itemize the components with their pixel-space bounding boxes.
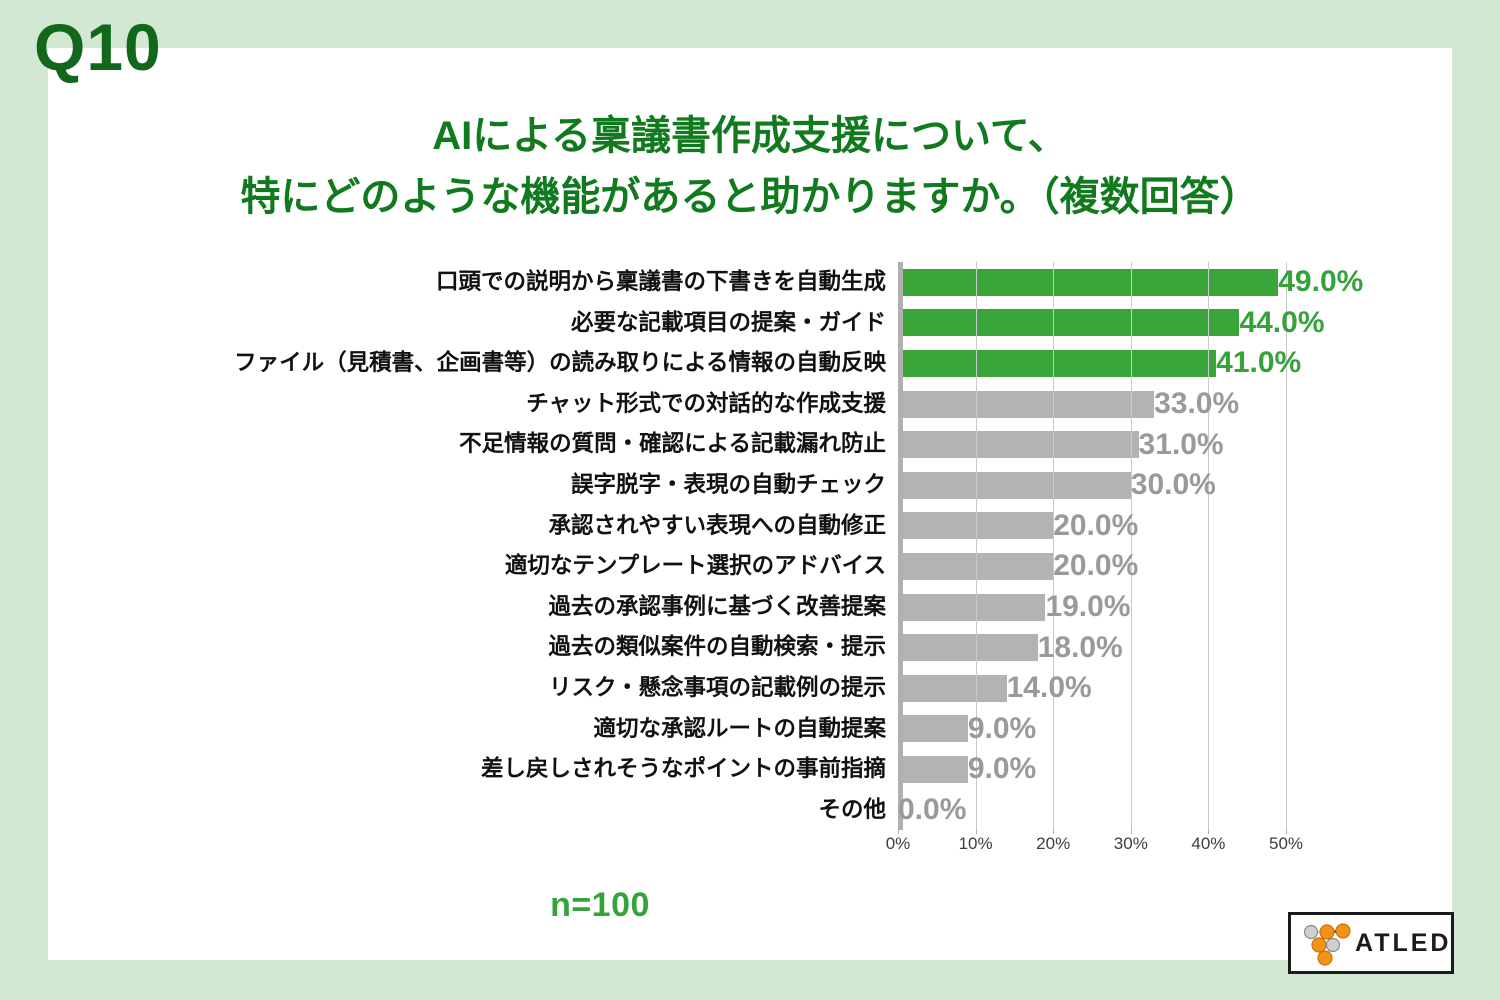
- category-label: 承認されやすい表現への自動修正: [120, 515, 898, 538]
- bar: [898, 472, 1131, 499]
- bar-value-label: 41.0%: [1216, 348, 1301, 378]
- bar-value-label: 19.0%: [1045, 592, 1130, 622]
- bar-row: ファイル（見積書、企画書等）の読み取りによる情報の自動反映41.0%: [120, 343, 1390, 384]
- x-tick-mark: [976, 826, 977, 834]
- bar: [898, 553, 1053, 580]
- x-tick-mark: [1131, 826, 1132, 834]
- category-label: 適切な承認ルートの自動提案: [120, 718, 898, 741]
- bar: [898, 391, 1154, 418]
- bar-row: 過去の承認事例に基づく改善提案19.0%: [120, 587, 1390, 628]
- bar-zone: 0.0%: [898, 790, 1390, 831]
- bar-rows: 口頭での説明から稟議書の下書きを自動生成49.0%必要な記載項目の提案・ガイド4…: [120, 262, 1390, 830]
- bar-row: 誤字脱字・表現の自動チェック30.0%: [120, 465, 1390, 506]
- atled-node-graph-icon: [1299, 920, 1351, 966]
- bar-value-label: 20.0%: [1053, 551, 1138, 581]
- x-tick-label: 0%: [886, 834, 911, 854]
- bar-row: 口頭での説明から稟議書の下書きを自動生成49.0%: [120, 262, 1390, 303]
- bar-zone: 49.0%: [898, 262, 1390, 303]
- atled-wordmark: ATLED: [1355, 931, 1451, 956]
- bar: [898, 431, 1139, 458]
- title-line-1: AIによる稟議書作成支援について、: [60, 106, 1440, 167]
- bar: [898, 756, 968, 783]
- bar-row: チャット形式での対話的な作成支援33.0%: [120, 384, 1390, 425]
- bar-zone: 33.0%: [898, 384, 1390, 425]
- bar-zone: 20.0%: [898, 506, 1390, 547]
- x-tick-label: 30%: [1114, 834, 1148, 854]
- category-label: チャット形式での対話的な作成支援: [120, 393, 898, 416]
- bar-row: リスク・懸念事項の記載例の提示14.0%: [120, 668, 1390, 709]
- question-number: Q10: [34, 14, 162, 80]
- bar-row: 必要な記載項目の提案・ガイド44.0%: [120, 303, 1390, 344]
- bar-value-label: 30.0%: [1131, 470, 1216, 500]
- bar-zone: 19.0%: [898, 587, 1390, 628]
- bar-value-label: 18.0%: [1038, 633, 1123, 663]
- x-tick-mark: [1053, 826, 1054, 834]
- bar-chart: 口頭での説明から稟議書の下書きを自動生成49.0%必要な記載項目の提案・ガイド4…: [120, 262, 1390, 862]
- bar-row: 承認されやすい表現への自動修正20.0%: [120, 506, 1390, 547]
- title-line-2: 特にどのような機能があると助かりますか。（複数回答）: [60, 167, 1440, 228]
- bar-row: 適切なテンプレート選択のアドバイス20.0%: [120, 546, 1390, 587]
- category-label: 誤字脱字・表現の自動チェック: [120, 474, 898, 497]
- bar-zone: 18.0%: [898, 627, 1390, 668]
- bar: [898, 350, 1216, 377]
- bar-value-label: 9.0%: [968, 714, 1036, 744]
- atled-logo: ATLED: [1288, 912, 1454, 974]
- bar-value-label: 33.0%: [1154, 389, 1239, 419]
- bar-zone: 9.0%: [898, 709, 1390, 750]
- x-tick-mark: [1208, 826, 1209, 834]
- x-tick-label: 10%: [959, 834, 993, 854]
- bar: [898, 634, 1038, 661]
- slide-canvas: Q10 AIによる稟議書作成支援について、 特にどのような機能があると助かります…: [0, 0, 1500, 1000]
- category-label: ファイル（見積書、企画書等）の読み取りによる情報の自動反映: [120, 352, 898, 375]
- bar-value-label: 0.0%: [898, 795, 966, 825]
- category-label: 過去の類似案件の自動検索・提示: [120, 636, 898, 659]
- category-label: 過去の承認事例に基づく改善提案: [120, 596, 898, 619]
- bar: [898, 512, 1053, 539]
- category-label: 必要な記載項目の提案・ガイド: [120, 312, 898, 335]
- x-tick-label: 40%: [1191, 834, 1225, 854]
- bar-value-label: 44.0%: [1239, 308, 1324, 338]
- bar-value-label: 9.0%: [968, 754, 1036, 784]
- bar-zone: 31.0%: [898, 424, 1390, 465]
- bar: [898, 594, 1045, 621]
- category-label: 差し戻しされそうなポイントの事前指摘: [120, 758, 898, 781]
- bar-row: 不足情報の質問・確認による記載漏れ防止31.0%: [120, 424, 1390, 465]
- x-tick-mark: [898, 826, 899, 834]
- bar-row: その他0.0%: [120, 790, 1390, 831]
- x-tick-mark: [1286, 826, 1287, 834]
- x-axis: 0%10%20%30%40%50%: [898, 834, 1390, 864]
- bar: [898, 675, 1007, 702]
- bar-zone: 20.0%: [898, 546, 1390, 587]
- category-label: 適切なテンプレート選択のアドバイス: [120, 555, 898, 578]
- x-tick-label: 20%: [1036, 834, 1070, 854]
- x-tick-label: 50%: [1269, 834, 1303, 854]
- bar-row: 過去の類似案件の自動検索・提示18.0%: [120, 627, 1390, 668]
- bar-row: 差し戻しされそうなポイントの事前指摘9.0%: [120, 749, 1390, 790]
- sample-size-label: n=100: [0, 886, 1500, 925]
- category-label: 不足情報の質問・確認による記載漏れ防止: [120, 433, 898, 456]
- bar-zone: 41.0%: [898, 343, 1390, 384]
- bar-zone: 30.0%: [898, 465, 1390, 506]
- bar-zone: 14.0%: [898, 668, 1390, 709]
- bar: [898, 715, 968, 742]
- bar-zone: 9.0%: [898, 749, 1390, 790]
- bar: [898, 269, 1278, 296]
- bar-value-label: 31.0%: [1139, 430, 1224, 460]
- page-title: AIによる稟議書作成支援について、 特にどのような機能があると助かりますか。（複…: [60, 106, 1440, 228]
- bar-value-label: 49.0%: [1278, 267, 1363, 297]
- category-label: その他: [120, 799, 898, 822]
- bar-zone: 44.0%: [898, 303, 1390, 344]
- bar-row: 適切な承認ルートの自動提案9.0%: [120, 709, 1390, 750]
- bar: [898, 309, 1239, 336]
- bar-value-label: 20.0%: [1053, 511, 1138, 541]
- bar-value-label: 14.0%: [1007, 673, 1092, 703]
- category-label: 口頭での説明から稟議書の下書きを自動生成: [120, 271, 898, 294]
- category-label: リスク・懸念事項の記載例の提示: [120, 677, 898, 700]
